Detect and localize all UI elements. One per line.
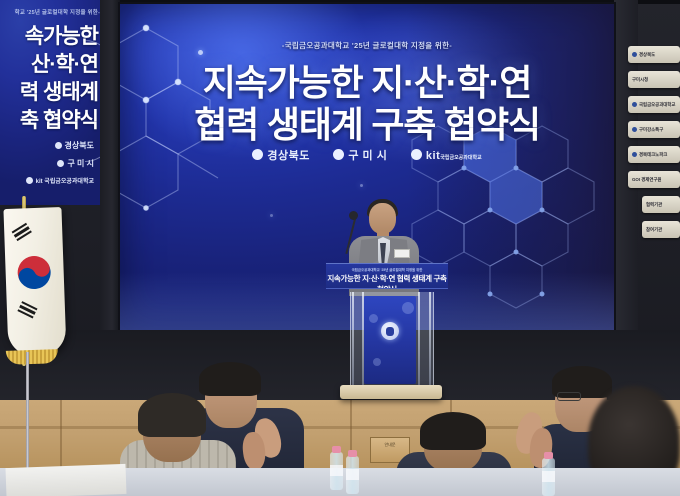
main-screen-subtitle: -국립금오공과대학교 '25년 글로컬대학 지정을 위한- [120,40,614,51]
plaque-logo-icon [632,102,637,107]
left-logo-label-3: kit 국립금오공과대학교 [36,179,94,185]
korean-flag [3,207,66,357]
kit-logo-icon [26,177,33,184]
bottle-label [542,471,555,482]
podium-rail [352,292,354,388]
attendee-hair [199,362,261,396]
plaque-item: 경상북도 [628,46,680,63]
taeguk-symbol-icon [12,250,57,295]
left-screen-logo-3: kit 국립금오공과대학교 [26,176,94,185]
logo-kit: kit국립금오공과대학교 [411,150,482,162]
water-bottle [346,456,359,494]
podium-banner: 국립금오공과대학교 '25년 글로컬대학 지정을 위한 지속가능한 지·산·학·… [326,263,448,289]
plaque-item: 국립금오공과대학교 [628,96,680,113]
wall-pillar-center [100,0,120,350]
podium-base [340,385,442,399]
plaque-label: 구미시청 [632,77,648,83]
gumi-city-logo-icon [333,149,344,160]
bottle-cap [348,450,357,457]
gyeongbuk-logo-icon [252,149,263,160]
flag-stand [26,352,29,472]
gumi-city-logo-icon [57,160,64,167]
podium-banner-subtitle: 국립금오공과대학교 '25년 글로컬대학 지정을 위한 [326,267,448,272]
bottle-cap [332,446,341,453]
plaque-label: 협력기관 [646,202,662,208]
podium-emblem-icon [381,322,399,340]
right-wall-plaque-list: 경상북도 구미시청 국립금오공과대학교 구미강소특구 경북테크노파크 GOI 경… [628,46,680,246]
water-bottle [542,458,555,496]
plaque-logo-icon [632,152,637,157]
gyeongbuk-logo-icon [55,142,62,149]
trigram-gon-icon [17,301,37,318]
podium-rail [418,292,420,388]
plaque-logo-icon [632,127,637,132]
documents-on-table [6,464,127,496]
podium-bubble [402,302,414,314]
left-screen-title-line1: 속가능한 [25,20,98,50]
trigram-geon-icon [12,223,32,241]
bottle-cap [544,452,553,459]
logo-kit-sublabel: 국립금오공과대학교 [440,155,481,161]
logo-gyeongbuk: 경상북도 [252,150,313,162]
podium-bubble [369,314,378,323]
plaque-label: GOI 경제연구원 [632,177,661,183]
plaque-item: 참여기관 [642,221,680,238]
plaque-item: 구미강소특구 [628,121,680,138]
podium-banner-title: 지속가능한 지·산·학·연 협력 생태계 구축 협약식 [326,273,448,289]
bottle-label [330,465,343,476]
left-screen-title-line4: 축 협약식 [20,104,98,134]
plaque-item: 구미시청 [628,71,680,88]
logo-gumi-label: 구 미 시 [348,150,387,162]
water-bottle [330,452,343,490]
bottle-label [346,469,359,480]
left-screen-title-line2: 산·학·연 [31,48,98,78]
screen-dot [360,184,363,187]
attendee-hair [420,412,486,450]
left-led-screen: 학교 '25년 글로컬대학 지정을 위한- 속가능한 산·학·연 력 생태계 축… [0,0,100,205]
microphone-icon [349,211,358,220]
plaque-item: 경북테크노파크 [628,146,680,163]
left-screen-logo-2: 구 미 시 [57,158,94,169]
left-screen-subtitle: 학교 '25년 글로컬대학 지정을 위한- [0,8,100,16]
left-screen-logo-1: 경상북도 [55,140,94,151]
plaque-label: 참여기관 [646,227,662,233]
attendee-glasses-icon [557,392,581,401]
plaque-item: 협력기관 [642,196,680,213]
plaque-label: 구미강소특구 [639,127,663,133]
left-logo-label-2: 구 미 시 [67,159,94,168]
logo-kit-label: kit [426,150,440,162]
kit-logo-icon [411,149,422,160]
plaque-label: 경상북도 [639,52,655,58]
podium-rail [429,292,431,388]
plaque-label: 경북테크노파크 [639,152,667,158]
plaque-label: 국립금오공과대학교 [639,102,675,108]
photo-scene: 학교 '25년 글로컬대학 지정을 위한- 속가능한 산·학·연 력 생태계 축… [0,0,680,496]
plaque-logo-icon [632,52,637,57]
main-screen-logo-row: 경상북도 구 미 시 kit국립금오공과대학교 [120,147,614,163]
plaque-item: GOI 경제연구원 [628,171,680,188]
screen-dot [270,214,273,217]
podium-rail [362,292,364,388]
attendee-hair [138,393,206,437]
logo-gumi: 구 미 시 [333,150,391,162]
speaker-name-badge [394,249,410,258]
podium-bubble [373,358,381,366]
left-logo-label-1: 경상북도 [65,141,94,150]
left-screen-title-line3: 력 생태계 [20,76,98,106]
main-screen-title-line2: 협력 생태계 구축 협약식 [120,96,614,148]
logo-gyeongbuk-label: 경상북도 [267,150,309,162]
